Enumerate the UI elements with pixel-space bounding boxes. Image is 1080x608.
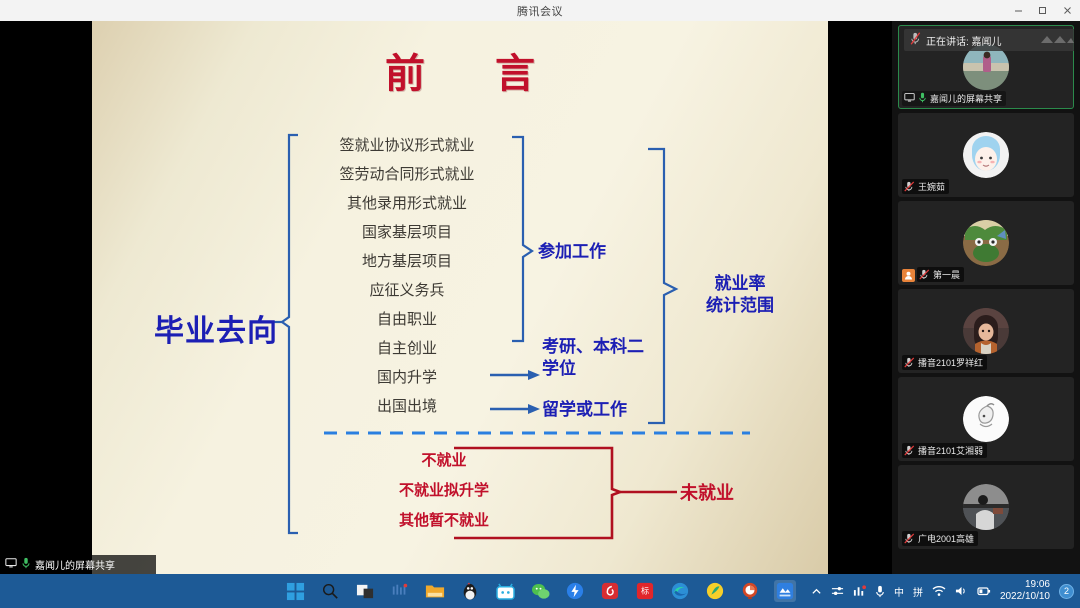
presentation-slide: 前言 毕业去向 签就业协议形式就业 签劳动合同形式就业 其他录用形式就业 国家基… <box>92 21 828 574</box>
title-bar: 腾讯会议 <box>0 0 1080 21</box>
avatar <box>963 484 1009 530</box>
screen-share-label: 嘉闻儿的屏幕共享 <box>35 557 115 572</box>
meeting-body: 前言 毕业去向 签就业协议形式就业 签劳动合同形式就业 其他录用形式就业 国家基… <box>0 21 1080 574</box>
category-study: 考研、本科二 学位 <box>542 336 682 380</box>
participant-name-label: 第一晨 <box>933 268 960 281</box>
volume-icon[interactable] <box>955 585 968 597</box>
wechat-button[interactable] <box>529 580 551 602</box>
slide-title-right: 言 <box>495 50 535 97</box>
scope-line1: 就业率 <box>690 273 790 295</box>
participant-name-label: 广电2001高雄 <box>918 532 974 545</box>
employment-items-list: 签就业协议形式就业 签劳动合同形式就业 其他录用形式就业 国家基层项目 地方基层… <box>302 131 512 421</box>
taskbar: 标 <box>0 574 1080 608</box>
list-item: 其他暂不就业 <box>354 505 534 535</box>
mic-muted-icon <box>904 181 915 192</box>
participant-tile[interactable]: 王婉茹 <box>898 113 1074 197</box>
maximize-icon[interactable] <box>1030 0 1054 21</box>
monitor-icon <box>5 557 17 572</box>
notification-badge[interactable]: 2 <box>1059 584 1074 599</box>
audio-wave-icon <box>1040 32 1074 48</box>
bilibili-button[interactable] <box>494 580 516 602</box>
participant-tile[interactable]: 播音2101罗祥红 <box>898 289 1074 373</box>
category-study-line2: 学位 <box>542 358 682 380</box>
mic-muted-icon <box>904 357 915 368</box>
participant-tile[interactable]: 第一晨 <box>898 201 1074 285</box>
list-item: 国内升学 <box>302 363 512 392</box>
participant-name: 嘉闻儿的屏幕共享 <box>902 91 1006 106</box>
clock-time: 19:06 <box>1000 579 1050 591</box>
taskbar-items: 标 <box>284 574 796 608</box>
search-icon[interactable] <box>319 580 341 602</box>
battery-icon[interactable] <box>977 585 991 597</box>
participant-tile[interactable]: 播音2101艾湘弱 <box>898 377 1074 461</box>
list-item: 出国出境 <box>302 392 512 421</box>
screen-share-status-bar: 嘉闻儿的屏幕共享 <box>0 555 156 574</box>
clock[interactable]: 19:06 2022/10/10 <box>1000 579 1050 603</box>
list-item: 签劳动合同形式就业 <box>302 160 512 189</box>
participant-name: 播音2101罗祥红 <box>902 355 987 370</box>
category-study-line1: 考研、本科二 <box>542 336 682 358</box>
list-item: 不就业拟升学 <box>354 475 534 505</box>
task-view-button[interactable] <box>354 580 376 602</box>
network-settings-icon[interactable] <box>831 585 844 597</box>
list-item: 自主创业 <box>302 334 512 363</box>
microphone-icon[interactable] <box>875 585 885 598</box>
participant-name-label: 播音2101罗祥红 <box>918 356 983 369</box>
window-title: 腾讯会议 <box>0 3 1080 19</box>
participant-name-label: 王婉茹 <box>918 180 945 193</box>
microphone-icon <box>21 557 31 572</box>
thunder-button[interactable] <box>564 580 586 602</box>
file-explorer-button[interactable] <box>424 580 446 602</box>
participant-name-label: 嘉闻儿的屏幕共享 <box>930 92 1002 105</box>
ime-mode-indicator[interactable]: 拼 <box>913 584 923 599</box>
avatar <box>963 220 1009 266</box>
host-badge-icon <box>902 269 915 282</box>
unemployed-label: 未就业 <box>680 479 734 505</box>
avatar <box>963 308 1009 354</box>
powerpoint-button[interactable] <box>739 580 761 602</box>
meeting-window: 腾讯会议 <box>0 0 1080 608</box>
category-abroad: 留学或工作 <box>542 399 627 421</box>
participant-name-label: 播音2101艾湘弱 <box>918 444 983 457</box>
employment-rate-scope: 就业率 统计范围 <box>690 273 790 317</box>
sound-mixer-icon[interactable] <box>853 585 866 597</box>
participant-name: 王婉茹 <box>902 179 949 194</box>
system-tray: 中 拼 19:06 2022/10/10 2 <box>811 574 1074 608</box>
root-label: 毕业去向 <box>154 306 278 350</box>
edge-button[interactable] <box>669 580 691 602</box>
participant-name: 广电2001高雄 <box>902 531 978 546</box>
window-controls <box>1006 0 1080 21</box>
avatar <box>963 132 1009 178</box>
slide-title: 前言 <box>92 41 828 99</box>
tencent-meeting-button[interactable] <box>774 580 796 602</box>
list-item: 应征义务兵 <box>302 276 512 305</box>
list-item: 国家基层项目 <box>302 218 512 247</box>
list-item: 自由职业 <box>302 305 512 334</box>
netease-music-button[interactable] <box>599 580 621 602</box>
participant-name: 播音2101艾湘弱 <box>902 443 987 458</box>
start-button[interactable] <box>284 580 306 602</box>
ime-lang-indicator[interactable]: 中 <box>894 584 904 599</box>
minimize-icon[interactable] <box>1006 0 1030 21</box>
monitor-icon <box>904 92 915 105</box>
list-item: 不就业 <box>354 445 534 475</box>
avatar <box>963 396 1009 442</box>
microphone-icon <box>918 92 927 105</box>
widgets-button[interactable] <box>389 580 411 602</box>
speaking-indicator-bar: 正在讲话: 嘉闻儿 <box>904 29 1074 51</box>
mic-muted-icon <box>904 533 915 544</box>
shared-screen-stage[interactable]: 前言 毕业去向 签就业协议形式就业 签劳动合同形式就业 其他录用形式就业 国家基… <box>0 21 892 574</box>
svg-text:标: 标 <box>641 586 649 596</box>
list-item: 其他录用形式就业 <box>302 189 512 218</box>
wifi-icon[interactable] <box>932 585 946 597</box>
participant-tile[interactable]: 广电2001高雄 <box>898 465 1074 549</box>
scope-line2: 统计范围 <box>690 295 790 317</box>
participant-name: 第一晨 <box>917 267 964 282</box>
category-work: 参加工作 <box>538 241 606 263</box>
qq-button[interactable] <box>459 580 481 602</box>
chevron-up-icon[interactable] <box>811 586 822 597</box>
clock-date: 2022/10/10 <box>1000 591 1050 603</box>
participant-tile[interactable]: 正在讲话: 嘉闻儿 <box>898 25 1074 109</box>
list-item: 地方基层项目 <box>302 247 512 276</box>
app-red-button[interactable]: 标 <box>634 580 656 602</box>
participant-rail[interactable]: 正在讲话: 嘉闻儿 <box>892 21 1080 574</box>
mic-muted-icon <box>919 269 930 280</box>
mic-muted-icon <box>910 32 921 48</box>
mic-muted-icon <box>904 445 915 456</box>
speaking-label: 正在讲话: 嘉闻儿 <box>926 33 1002 48</box>
close-icon[interactable] <box>1054 0 1080 21</box>
list-item: 签就业协议形式就业 <box>302 131 512 160</box>
unemployed-items-list: 不就业 不就业拟升学 其他暂不就业 <box>354 445 534 535</box>
app-yellow-button[interactable] <box>704 580 726 602</box>
slide-title-left: 前 <box>385 50 425 97</box>
